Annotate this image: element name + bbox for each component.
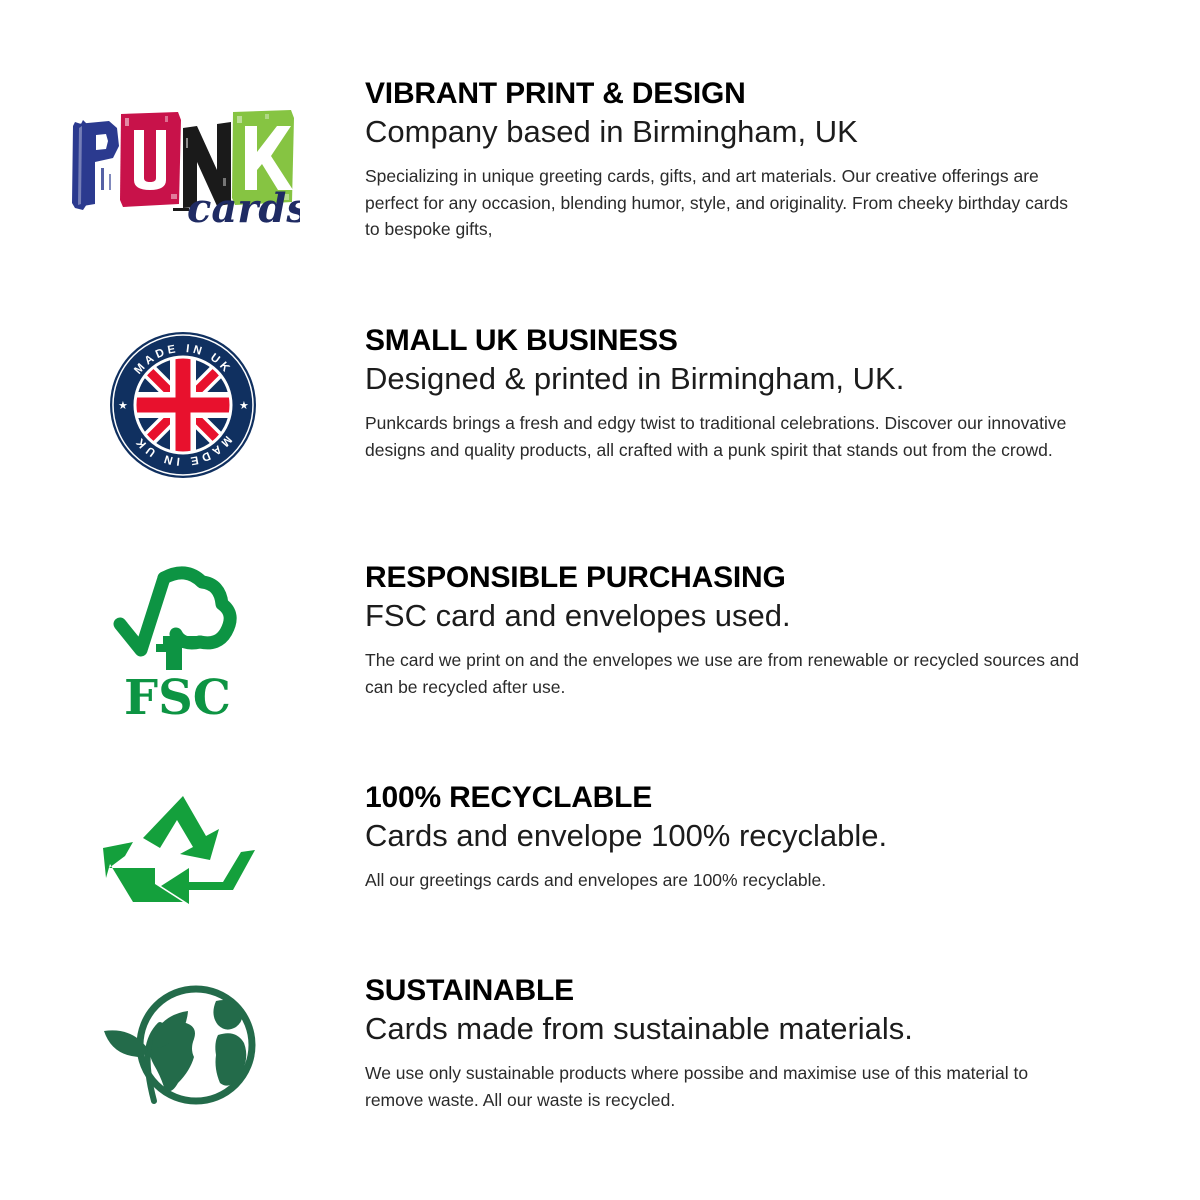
made-in-uk-badge-icon: MADE IN UK MADE IN UK ★ ★: [108, 330, 258, 480]
feature-icon-column: cards: [0, 78, 365, 228]
feature-icon-column: [0, 782, 365, 910]
feature-subtitle: Cards made from sustainable materials.: [365, 1011, 1100, 1048]
feature-row: MADE IN UK MADE IN UK ★ ★ SMALL UK BUSIN…: [0, 325, 1200, 480]
feature-subtitle: Cards and envelope 100% recyclable.: [365, 818, 1100, 855]
star-icon-right: ★: [239, 400, 249, 412]
feature-body: All our greetings cards and envelopes ar…: [365, 867, 1085, 894]
features-page: cards VIBRANT PRINT & DESIGN Company bas…: [0, 0, 1200, 1200]
feature-row: SUSTAINABLE Cards made from sustainable …: [0, 975, 1200, 1113]
feature-row: 100% RECYCLABLE Cards and envelope 100% …: [0, 782, 1200, 910]
feature-icon-column: [0, 975, 365, 1109]
feature-subtitle: Company based in Birmingham, UK: [365, 114, 1100, 151]
feature-title: RESPONSIBLE PURCHASING: [365, 562, 1100, 594]
punkcards-logo: cards: [65, 108, 300, 228]
feature-title: 100% RECYCLABLE: [365, 782, 1100, 814]
fsc-logo-icon: FSC: [108, 562, 258, 722]
feature-icon-column: MADE IN UK MADE IN UK ★ ★: [0, 325, 365, 480]
star-icon-left: ★: [118, 400, 128, 412]
feature-subtitle: Designed & printed in Birmingham, UK.: [365, 361, 1100, 398]
feature-title: SMALL UK BUSINESS: [365, 325, 1100, 357]
feature-text-column: RESPONSIBLE PURCHASING FSC card and enve…: [365, 562, 1200, 700]
feature-text-column: SUSTAINABLE Cards made from sustainable …: [365, 975, 1200, 1113]
feature-text-column: SMALL UK BUSINESS Designed & printed in …: [365, 325, 1200, 463]
punkcards-wordmark: cards: [187, 185, 300, 228]
feature-text-column: VIBRANT PRINT & DESIGN Company based in …: [365, 78, 1200, 243]
feature-title: SUSTAINABLE: [365, 975, 1100, 1007]
feature-body: We use only sustainable products where p…: [365, 1060, 1085, 1113]
feature-icon-column: FSC: [0, 562, 365, 722]
feature-body: Specializing in unique greeting cards, g…: [365, 163, 1085, 243]
feature-row: FSC RESPONSIBLE PURCHASING FSC card and …: [0, 562, 1200, 722]
feature-subtitle: FSC card and envelopes used.: [365, 598, 1100, 635]
recycling-symbol-icon: [103, 790, 263, 910]
fsc-label: FSC: [124, 670, 231, 722]
sustainable-globe-plant-icon: [90, 979, 275, 1109]
feature-body: The card we print on and the envelopes w…: [365, 647, 1085, 700]
feature-text-column: 100% RECYCLABLE Cards and envelope 100% …: [365, 782, 1200, 894]
feature-title: VIBRANT PRINT & DESIGN: [365, 78, 1100, 110]
feature-row: cards VIBRANT PRINT & DESIGN Company bas…: [0, 78, 1200, 243]
feature-body: Punkcards brings a fresh and edgy twist …: [365, 410, 1085, 463]
